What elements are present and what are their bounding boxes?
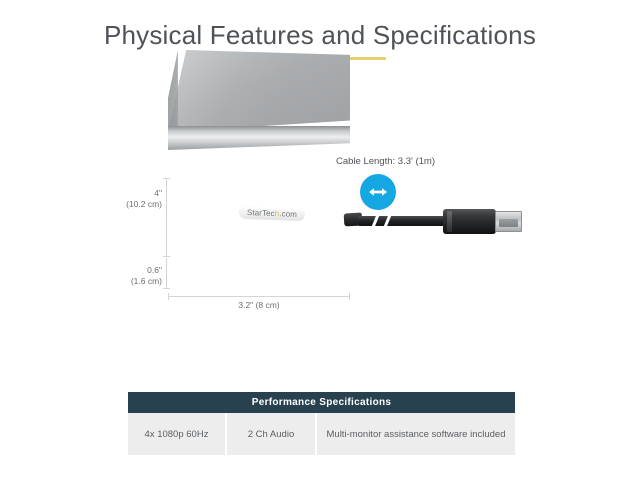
spec-table-row: 4x 1080p 60Hz 2 Ch Audio Multi-monitor a… bbox=[128, 413, 515, 455]
dimension-guide-depth-line bbox=[166, 258, 167, 288]
dimension-guide-width-line bbox=[168, 296, 350, 297]
double-arrow-horizontal-icon bbox=[367, 186, 389, 198]
usb-connector-ridge bbox=[447, 211, 452, 232]
dimension-tick bbox=[163, 256, 170, 257]
spec-table-header: Performance Specifications bbox=[128, 392, 515, 413]
spec-cell-resolution: 4x 1080p 60Hz bbox=[128, 413, 227, 455]
logo-text-tail: .com bbox=[279, 209, 297, 219]
dimension-label-width: 3.2" (8 cm) bbox=[168, 300, 350, 311]
dimension-depth-metric: (1.6 cm) bbox=[100, 276, 162, 287]
dimension-height-metric: (10.2 cm) bbox=[100, 199, 162, 210]
performance-specifications-table: Performance Specifications 4x 1080p 60Hz… bbox=[128, 392, 515, 455]
dimension-tick bbox=[163, 288, 170, 289]
logo-text-main: StarTec bbox=[247, 208, 275, 218]
spec-cell-software: Multi-monitor assistance software includ… bbox=[317, 413, 515, 455]
dimension-label-height: 4" (10.2 cm) bbox=[100, 188, 162, 210]
dimension-height-imperial: 4" bbox=[100, 188, 162, 199]
usb-connector-slot bbox=[499, 219, 518, 227]
cable-length-label: Cable Length: 3.3' (1m) bbox=[336, 156, 435, 167]
spec-cell-audio: 2 Ch Audio bbox=[227, 413, 317, 455]
page-title: Physical Features and Specifications bbox=[0, 20, 640, 51]
cable-length-badge bbox=[360, 174, 396, 210]
device-front-edge bbox=[168, 126, 350, 150]
product-logo-badge: StarTech.com bbox=[239, 206, 305, 222]
dimension-label-depth: 0.6" (1.6 cm) bbox=[100, 265, 162, 287]
dimension-tick bbox=[163, 178, 170, 179]
dimension-tick bbox=[168, 293, 169, 300]
product-logo-text: StarTech.com bbox=[247, 208, 297, 219]
dimension-tick bbox=[349, 293, 350, 300]
dimension-guide-height-line bbox=[166, 178, 167, 256]
dimension-depth-imperial: 0.6" bbox=[100, 265, 162, 276]
dimension-width-value: 3.2" (8 cm) bbox=[168, 300, 350, 311]
device-top-face bbox=[168, 50, 350, 132]
